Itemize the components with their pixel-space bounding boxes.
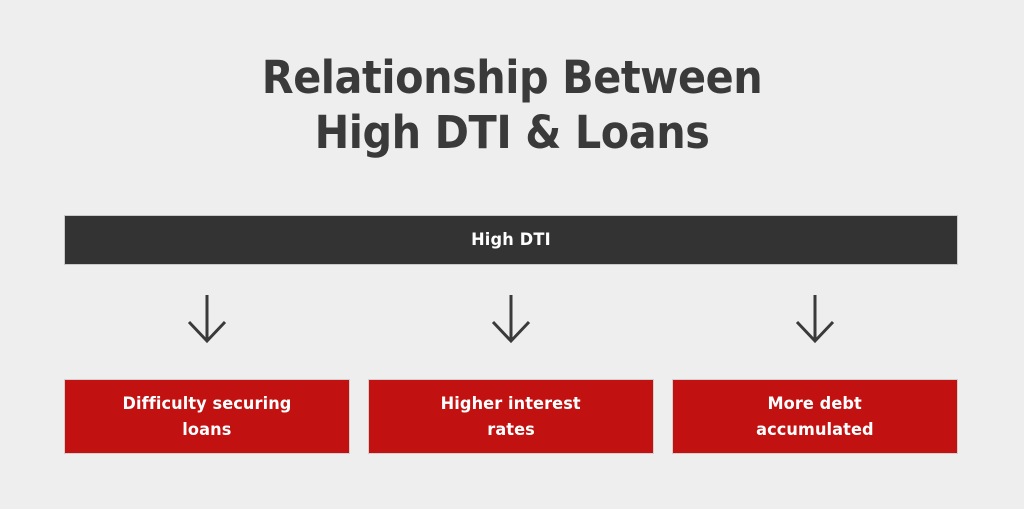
root-node-label: High DTI xyxy=(471,230,551,250)
outcome-label-line-1: Difficulty securing xyxy=(122,391,291,417)
outcome-label-line-2: accumulated xyxy=(756,417,874,443)
page-title-line-2: High DTI & Loans xyxy=(41,105,983,160)
connector-row xyxy=(64,292,958,350)
page-title: Relationship Between High DTI & Loans xyxy=(0,50,1024,160)
arrow-down-icon xyxy=(489,292,533,344)
connector-2 xyxy=(368,292,654,350)
root-node-high-dti: High DTI xyxy=(64,215,958,265)
outcome-box-more-debt-accumulated: More debt accumulated xyxy=(672,379,958,454)
outcome-label-line-1: More debt xyxy=(768,391,862,417)
outcome-box-difficulty-securing-loans: Difficulty securing loans xyxy=(64,379,350,454)
outcome-row: Difficulty securing loans Higher interes… xyxy=(64,379,958,454)
connector-3 xyxy=(672,292,958,350)
outcome-label-line-1: Higher interest xyxy=(441,391,581,417)
outcome-box-higher-interest-rates: Higher interest rates xyxy=(368,379,654,454)
arrow-down-icon xyxy=(185,292,229,344)
arrow-down-icon xyxy=(793,292,837,344)
page-title-line-1: Relationship Between xyxy=(41,50,983,105)
connector-1 xyxy=(64,292,350,350)
dti-loans-flowchart: Relationship Between High DTI & Loans Hi… xyxy=(0,0,1024,509)
outcome-label-line-2: loans xyxy=(182,417,231,443)
outcome-label-line-2: rates xyxy=(487,417,535,443)
